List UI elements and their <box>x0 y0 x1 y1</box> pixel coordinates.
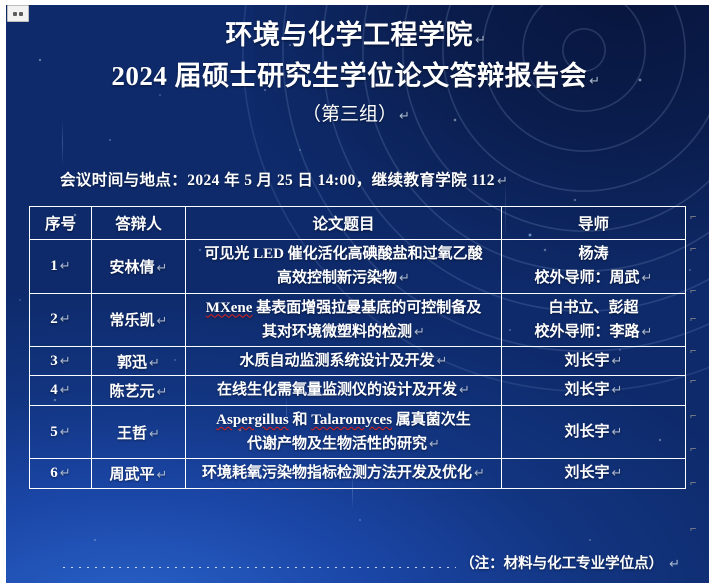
page-title-line-1: 环境与化学工程学院↵ <box>6 18 706 57</box>
page-subtitle: （第三组）↵ <box>6 100 706 131</box>
dot-leader <box>60 556 456 568</box>
paragraph-mark-icon: ↵ <box>497 173 508 188</box>
cell-person: 周武平↵ <box>92 459 186 488</box>
paragraph-mark-icon: ⌐ <box>690 286 696 297</box>
cell-person: 常乐凯↵ <box>92 293 186 347</box>
object-anchor-handle-icon[interactable] <box>7 5 29 22</box>
cell-line: 在线生化需氧量监测仪的设计及开发↵ <box>189 378 498 402</box>
cell-line: 白书立、彭超 <box>505 296 682 320</box>
cell-line: 刘长宇↵ <box>505 420 682 444</box>
cell-mentor: 白书立、彭超校外导师：李路↵ <box>502 293 686 347</box>
paragraph-mark-icon: ⌐ <box>690 244 696 255</box>
cell-no: 1↵ <box>30 240 92 294</box>
cell-person: 郭迅↵ <box>92 347 186 376</box>
cell-mentor: 刘长宇↵ <box>502 376 686 405</box>
table-row: 6↵周武平↵环境耗氧污染物指标检测方法开发及优化↵刘长宇↵ <box>30 459 686 488</box>
column-header-title: 论文题目 <box>186 207 502 240</box>
cell-person: 安林倩↵ <box>92 240 186 294</box>
cell-no: 6↵ <box>30 459 92 488</box>
paragraph-mark-icon: ↵ <box>669 556 680 572</box>
cell-thesis-title: 可见光 LED 催化活化高碘酸盐和过氧乙酸高效控制新污染物↵ <box>186 240 502 294</box>
cell-person: 王哲↵ <box>92 405 186 459</box>
cell-line: 其对环境微塑料的检测↵ <box>189 320 498 344</box>
table-row: 1↵安林倩↵可见光 LED 催化活化高碘酸盐和过氧乙酸高效控制新污染物↵杨涛校外… <box>30 240 686 294</box>
table-body: 1↵安林倩↵可见光 LED 催化活化高碘酸盐和过氧乙酸高效控制新污染物↵杨涛校外… <box>30 240 686 489</box>
paragraph-mark-icon: ⌐ <box>690 478 696 489</box>
slide-page: 环境与化学工程学院↵ 2024 届硕士研究生学位论文答辩报告会↵ （第三组）↵ … <box>0 0 714 583</box>
cell-thesis-title: MXene 基表面增强拉曼基底的可控制备及其对环境微塑料的检测↵ <box>186 293 502 347</box>
table-header-row: 序号 答辩人 论文题目 导师 <box>30 207 686 240</box>
cell-thesis-title: 水质自动监测系统设计及开发↵ <box>186 347 502 376</box>
paragraph-mark-icon: ↵ <box>475 32 486 47</box>
paragraph-mark-icon: ⌐ <box>690 524 696 535</box>
anchor-dot <box>13 12 17 16</box>
cell-person: 陈艺元↵ <box>92 376 186 405</box>
cell-thesis-title: 环境耗氧污染物指标检测方法开发及优化↵ <box>186 459 502 488</box>
defense-agenda-table: 序号 答辩人 论文题目 导师 1↵安林倩↵可见光 LED 催化活化高碘酸盐和过氧… <box>29 206 686 489</box>
page-title-line-2: 2024 届硕士研究生学位论文答辩报告会↵ <box>6 57 706 100</box>
cell-line: 代谢产物及生物活性的研究↵ <box>189 432 498 456</box>
paragraph-mark-icon: ⌐ <box>690 314 696 325</box>
title-line-1-text: 环境与化学工程学院 <box>226 20 474 50</box>
cell-line: 可见光 LED 催化活化高碘酸盐和过氧乙酸 <box>189 242 498 266</box>
paragraph-mark-icon: ⌐ <box>690 411 696 422</box>
cell-line: 校外导师：李路↵ <box>505 320 682 344</box>
paragraph-mark-icon: ⌐ <box>690 444 696 455</box>
cell-mentor: 杨涛校外导师：周武↵ <box>502 240 686 294</box>
cell-line: Aspergillus 和 Talaromyces 属真菌次生 <box>189 408 498 432</box>
paragraph-mark-icon: ↵ <box>589 73 600 88</box>
cell-no: 3↵ <box>30 347 92 376</box>
paragraph-mark-icon: ⌐ <box>690 376 696 387</box>
cell-line: 高效控制新污染物↵ <box>189 266 498 290</box>
meeting-info-line: 会议时间与地点：2024 年 5 月 25 日 14:00，继续教育学院 112… <box>60 168 508 190</box>
page-subtitle-text: （第三组） <box>302 104 397 125</box>
cell-thesis-title: 在线生化需氧量监测仪的设计及开发↵ <box>186 376 502 405</box>
cell-no: 5↵ <box>30 405 92 459</box>
table-row: 2↵常乐凯↵MXene 基表面增强拉曼基底的可控制备及其对环境微塑料的检测↵白书… <box>30 293 686 347</box>
column-header-person: 答辩人 <box>92 207 186 240</box>
table-row: 3↵郭迅↵水质自动监测系统设计及开发↵刘长宇↵ <box>30 347 686 376</box>
title-block: 环境与化学工程学院↵ 2024 届硕士研究生学位论文答辩报告会↵ （第三组）↵ <box>6 18 706 131</box>
cell-line: 校外导师：周武↵ <box>505 266 682 290</box>
table-row: 5↵王哲↵Aspergillus 和 Talaromyces 属真菌次生代谢产物… <box>30 405 686 459</box>
paragraph-mark-icon: ↵ <box>399 108 410 123</box>
cell-no: 2↵ <box>30 293 92 347</box>
paragraph-mark-icon: ⌐ <box>690 346 696 357</box>
cell-line: 水质自动监测系统设计及开发↵ <box>189 349 498 373</box>
cell-line: 刘长宇↵ <box>505 378 682 402</box>
column-header-no: 序号 <box>30 207 92 240</box>
cell-line: 环境耗氧污染物指标检测方法开发及优化↵ <box>189 461 498 485</box>
anchor-dot <box>19 12 23 16</box>
cell-mentor: 刘长宇↵ <box>502 459 686 488</box>
cell-thesis-title: Aspergillus 和 Talaromyces 属真菌次生代谢产物及生物活性… <box>186 405 502 459</box>
cell-line: 杨涛 <box>505 242 682 266</box>
meeting-info-text: 会议时间与地点：2024 年 5 月 25 日 14:00，继续教育学院 112 <box>60 172 495 189</box>
column-header-mentor: 导师 <box>502 207 686 240</box>
cell-mentor: 刘长宇↵ <box>502 405 686 459</box>
cell-no: 4↵ <box>30 376 92 405</box>
footer-note-text: （注：材料与化工专业学位点） <box>460 552 663 573</box>
cell-line: 刘长宇↵ <box>505 349 682 373</box>
cell-line: 刘长宇↵ <box>505 461 682 485</box>
footer-note: （注：材料与化工专业学位点） ↵ <box>60 552 680 573</box>
title-line-2-text: 2024 届硕士研究生学位论文答辩报告会 <box>111 61 587 91</box>
paragraph-mark-icon: ⌐ <box>690 212 696 223</box>
cell-line: MXene 基表面增强拉曼基底的可控制备及 <box>189 296 498 320</box>
table-row: 4↵陈艺元↵在线生化需氧量监测仪的设计及开发↵刘长宇↵ <box>30 376 686 405</box>
cell-mentor: 刘长宇↵ <box>502 347 686 376</box>
